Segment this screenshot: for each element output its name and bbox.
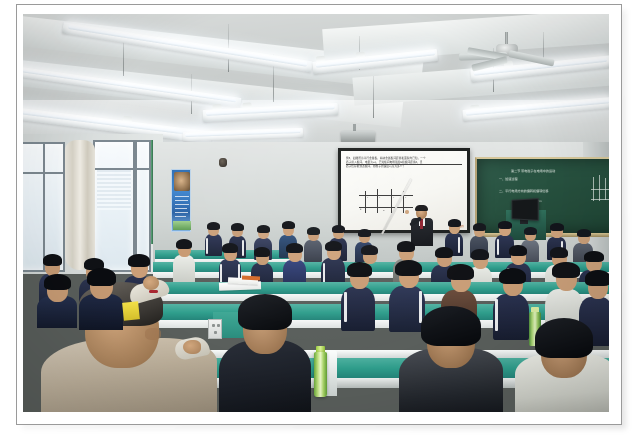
- poster-text-line: [175, 204, 189, 205]
- ceiling-fan: [463, 32, 553, 72]
- wall-speaker: [219, 158, 227, 167]
- hand: [183, 340, 201, 354]
- teacher-hand: [405, 210, 409, 214]
- student: [173, 238, 195, 280]
- window-narrow: [135, 140, 151, 272]
- poster-text-line: [175, 200, 188, 201]
- classroom-photograph: 第二节 带电粒子在电场中的运动 一、加速过程 二、平行电场方向的偏转和偏转位移 …: [23, 14, 609, 412]
- poster-portrait: [174, 172, 190, 191]
- chalk-line: 二、平行电场方向的偏转和偏转位移: [499, 189, 549, 193]
- yellow-notebook: [122, 301, 140, 321]
- student-foreground: [399, 310, 503, 412]
- window-left: [23, 142, 65, 272]
- hand: [143, 276, 159, 290]
- orange-book: [242, 276, 260, 281]
- student-foreground: [37, 276, 77, 324]
- window-mullion: [43, 144, 45, 270]
- chalk-line: 一、加速过程: [499, 177, 518, 181]
- plate-sign: +: [393, 197, 394, 199]
- student: [341, 262, 375, 326]
- poster-footer-graphic: [173, 221, 191, 230]
- window-mullion: [137, 168, 149, 170]
- student-foreground: [79, 270, 123, 326]
- scientist-poster: [171, 169, 191, 232]
- plate-sign: +: [405, 197, 406, 199]
- poster-text-line: [175, 196, 189, 197]
- student: [304, 226, 322, 260]
- window-curtain: [65, 140, 95, 270]
- plate-sign: +: [379, 197, 380, 199]
- slide-text-block: 例5、如图所示平行金属板，两块金属板间距离和面积均已知，一个 质子射入板间，电量…: [346, 157, 462, 169]
- light-hanger: [373, 76, 374, 118]
- teacher-hair: [415, 205, 428, 211]
- wrist-band: [149, 290, 158, 293]
- photo-frame: 第二节 带电粒子在电场中的运动 一、加速过程 二、平行电场方向的偏转和偏转位移 …: [0, 0, 640, 441]
- window-blinds: [97, 170, 131, 210]
- podium-monitor: [511, 198, 538, 221]
- green-tea-bottle: [314, 352, 327, 397]
- poster-text-line: [175, 208, 187, 209]
- field-label: E: [360, 209, 361, 211]
- poster-text-line: [175, 212, 188, 213]
- student-foreground: [515, 332, 609, 412]
- student-foreground: [219, 296, 311, 412]
- fan-blade: [508, 50, 554, 66]
- velocity-label: v₀: [383, 210, 385, 212]
- student: [283, 242, 306, 286]
- plate-sign: +: [367, 197, 368, 199]
- slide-line: 质子恰好能到达板间，则粒子的速度v₀应为多少？: [346, 165, 462, 169]
- ear: [145, 328, 161, 340]
- chalk-line: 第二节 带电粒子在电场中的运动: [511, 169, 555, 173]
- poster-text-line: [175, 216, 186, 217]
- chalk-field-diagram: [591, 173, 609, 209]
